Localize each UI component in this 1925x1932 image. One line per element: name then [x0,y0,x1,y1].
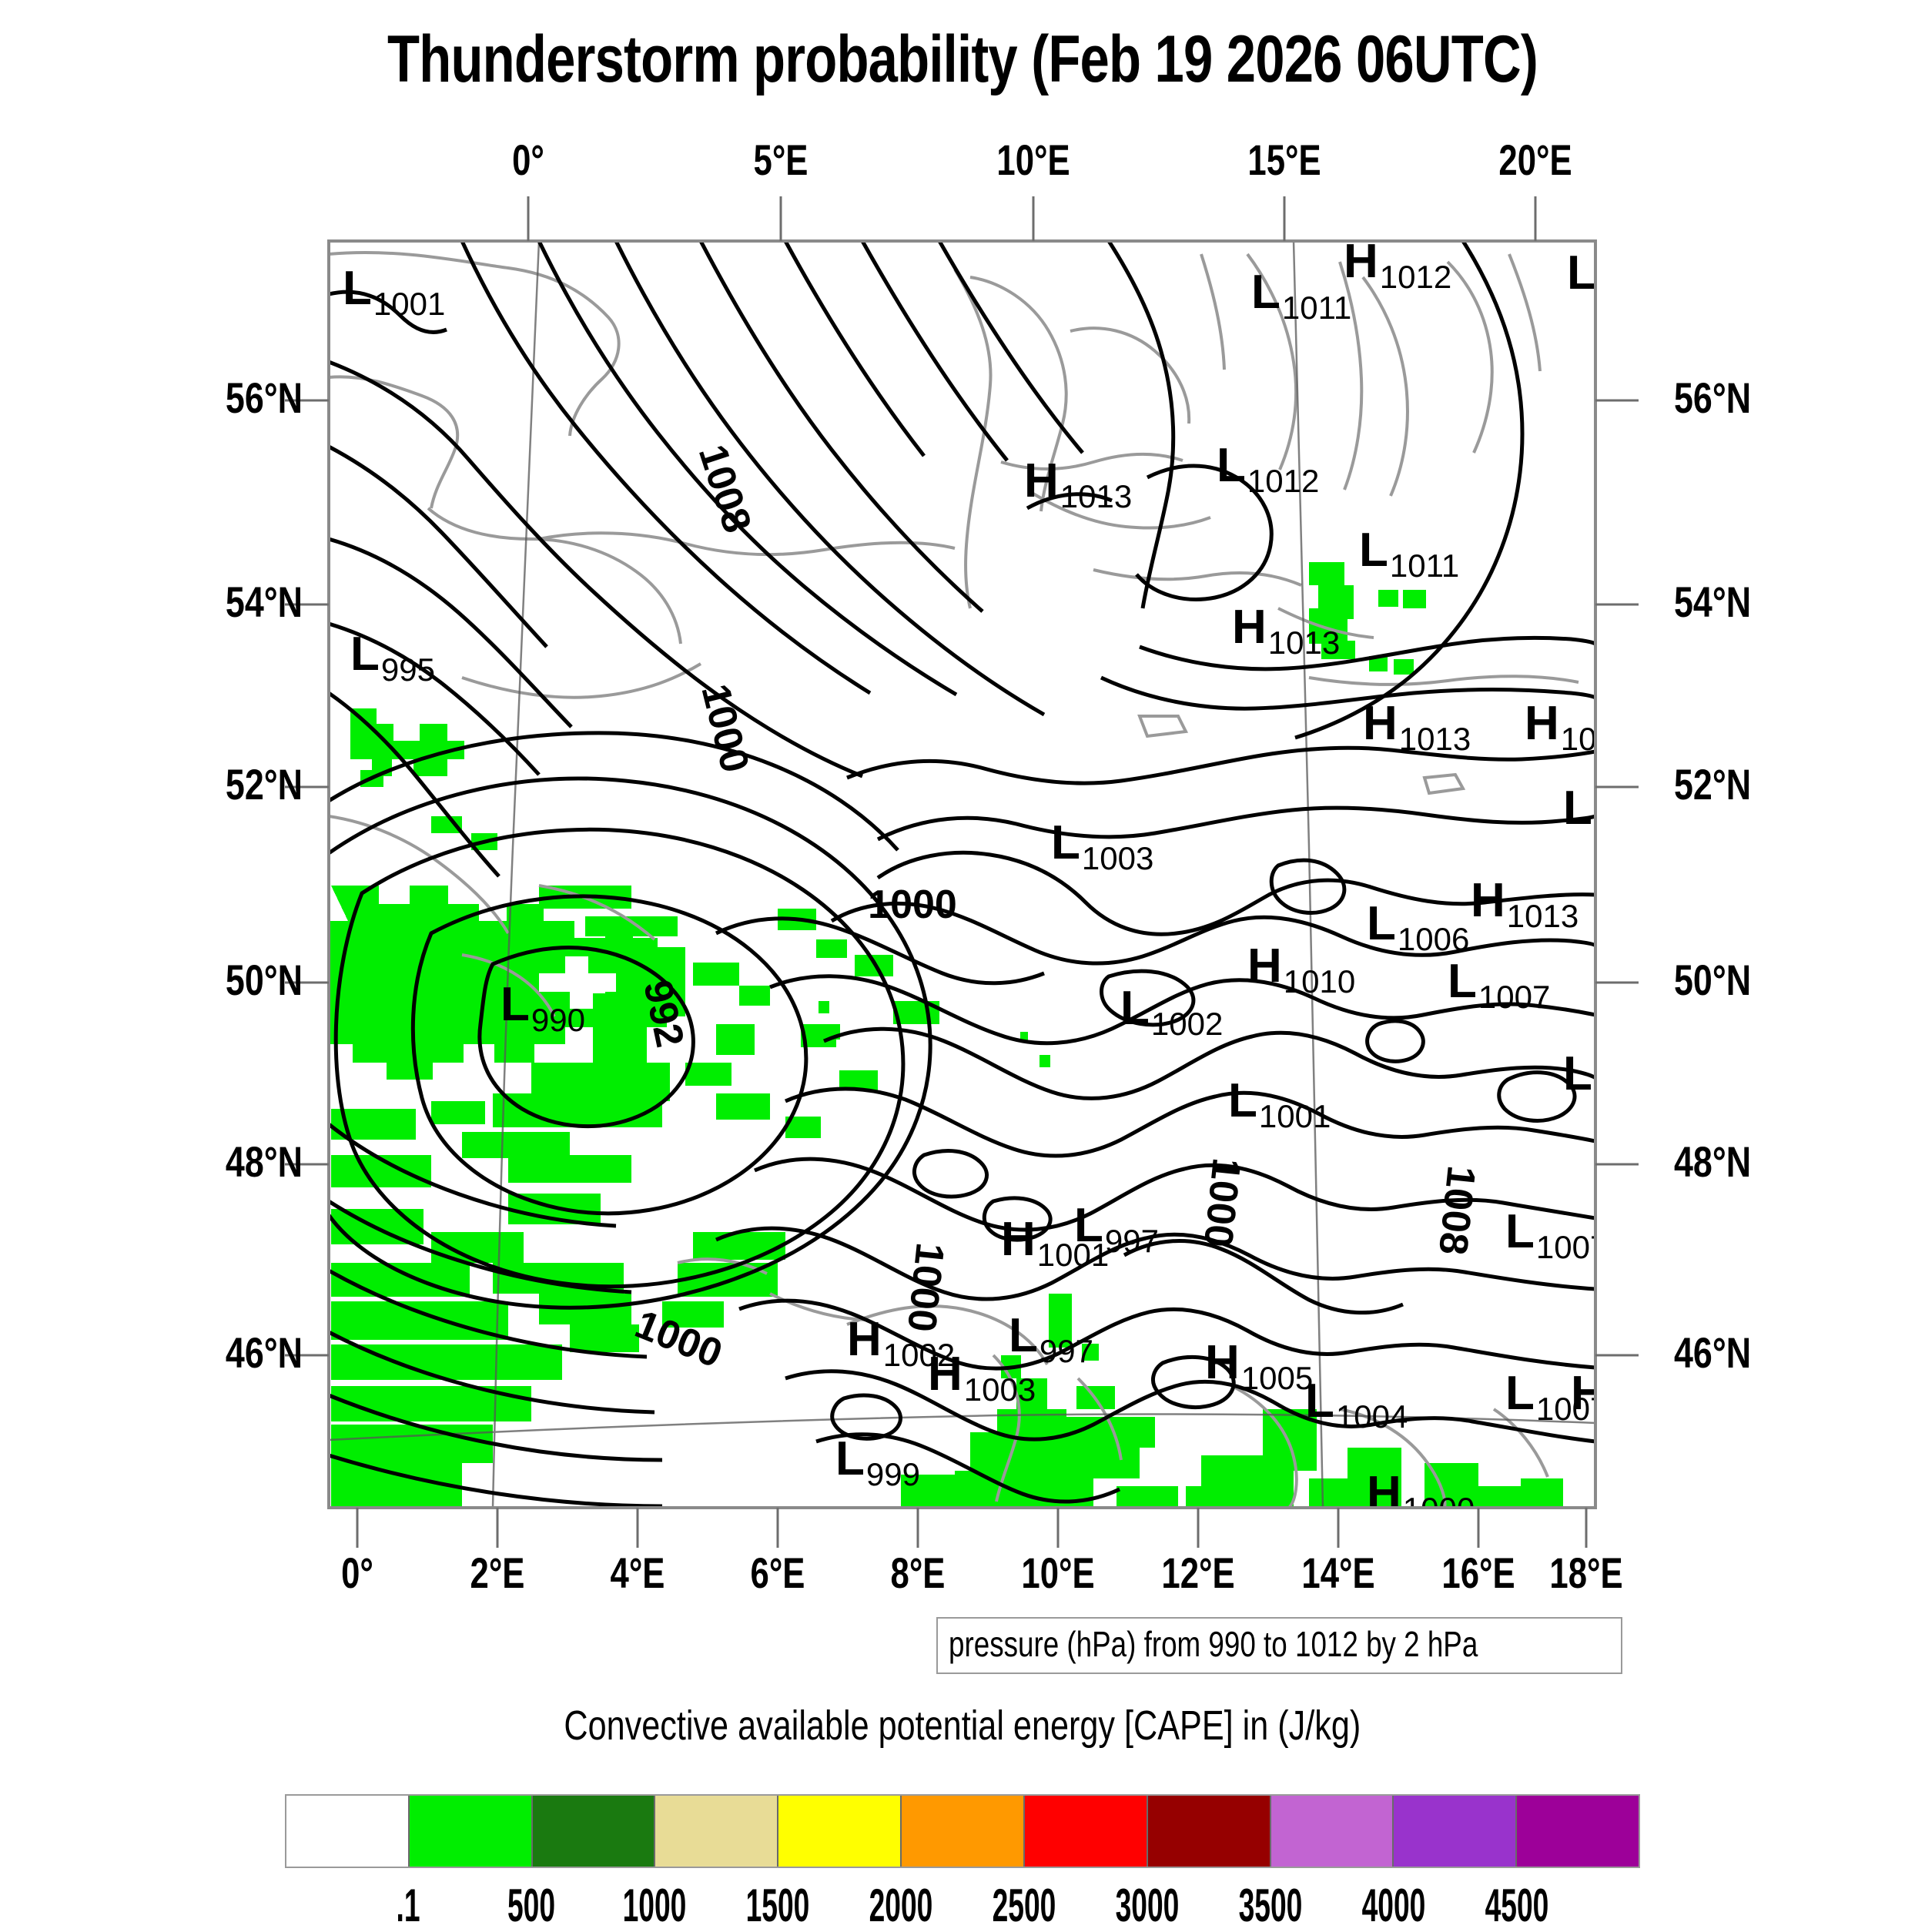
lon-label-bottom: 14°E [1284,1548,1392,1598]
lon-label-bottom: 8°E [864,1548,972,1598]
lon-label-top: 20°E [1481,135,1589,185]
colorbar-tick: 3500 [1239,1879,1303,1932]
lat-label-right: 50°N [1674,955,1822,1005]
lon-label-bottom: 16°E [1424,1548,1532,1598]
colorbar-tick: 1500 [746,1879,810,1932]
weather-map-page: Thunderstorm probability (Feb 19 2026 06… [0,0,1925,1925]
lon-label-bottom: 0° [303,1548,411,1598]
colorbar-tick: 1000 [623,1879,687,1932]
lat-label-left: 48°N [167,1137,303,1187]
contour-label: 1000 [1195,1156,1249,1249]
lat-label-left: 52°N [167,759,303,809]
colorbar-segment[interactable] [1023,1796,1147,1867]
lon-label-bottom: 10°E [1004,1548,1112,1598]
contour-label: 1000 [899,1241,952,1334]
pressure-legend-text: pressure (hPa) from 990 to 1012 by 2 hPa [949,1623,1478,1665]
lon-label-top: 10°E [979,135,1087,185]
lon-label-bottom: 6°E [724,1548,832,1598]
lon-label-top: 5°E [727,135,835,185]
lon-label-top: 15°E [1230,135,1338,185]
colorbar-segment[interactable] [777,1796,900,1867]
colorbar-tick: 2000 [869,1879,933,1932]
colorbar-segment[interactable] [1392,1796,1515,1867]
colorbar-tick: 4500 [1485,1879,1549,1932]
colorbar-tick: 3000 [1116,1879,1180,1932]
lat-label-left: 46°N [167,1328,303,1378]
colorbar-title: Convective available potential energy [C… [0,1702,1925,1750]
lon-label-bottom: 12°E [1144,1548,1252,1598]
low-pressure-marker: L10 [1567,246,1634,306]
lat-label-right: 52°N [1674,759,1822,809]
lon-label-top: 0° [474,135,582,185]
lon-label-bottom: 2°E [444,1548,551,1598]
map-contents: 1008100099210001000100010001008 L1001L99… [242,235,1634,1527]
colorbar-segment[interactable] [531,1796,654,1867]
colorbar-tick: 4000 [1362,1879,1426,1932]
lat-label-left: 56°N [167,373,303,423]
lon-label-bottom: 4°E [584,1548,691,1598]
high-pressure-marker: H [1571,1367,1605,1420]
colorbar-segment[interactable] [900,1796,1023,1867]
colorbar-segment[interactable] [408,1796,531,1867]
contour-label: 1008 [1430,1164,1484,1257]
colorbar-tick: .1 [396,1879,420,1932]
colorbar-segment[interactable] [1515,1796,1639,1867]
colorbar-segment[interactable] [654,1796,777,1867]
colorbar-tick: 2500 [993,1879,1056,1932]
lat-label-right: 46°N [1674,1328,1822,1378]
contour-label: 1000 [868,882,957,927]
lon-label-bottom: 18°E [1532,1548,1640,1598]
colorbar[interactable] [285,1794,1640,1868]
lat-label-left: 54°N [167,577,303,627]
colorbar-tick: 500 [507,1879,555,1932]
lat-label-right: 54°N [1674,577,1822,627]
lat-label-right: 56°N [1674,373,1822,423]
pressure-legend-box: pressure (hPa) from 990 to 1012 by 2 hPa [936,1617,1622,1674]
colorbar-segment[interactable] [286,1796,408,1867]
lat-label-right: 48°N [1674,1137,1822,1187]
colorbar-segment[interactable] [1147,1796,1270,1867]
lat-label-left: 50°N [167,955,303,1005]
colorbar-segment[interactable] [1270,1796,1393,1867]
